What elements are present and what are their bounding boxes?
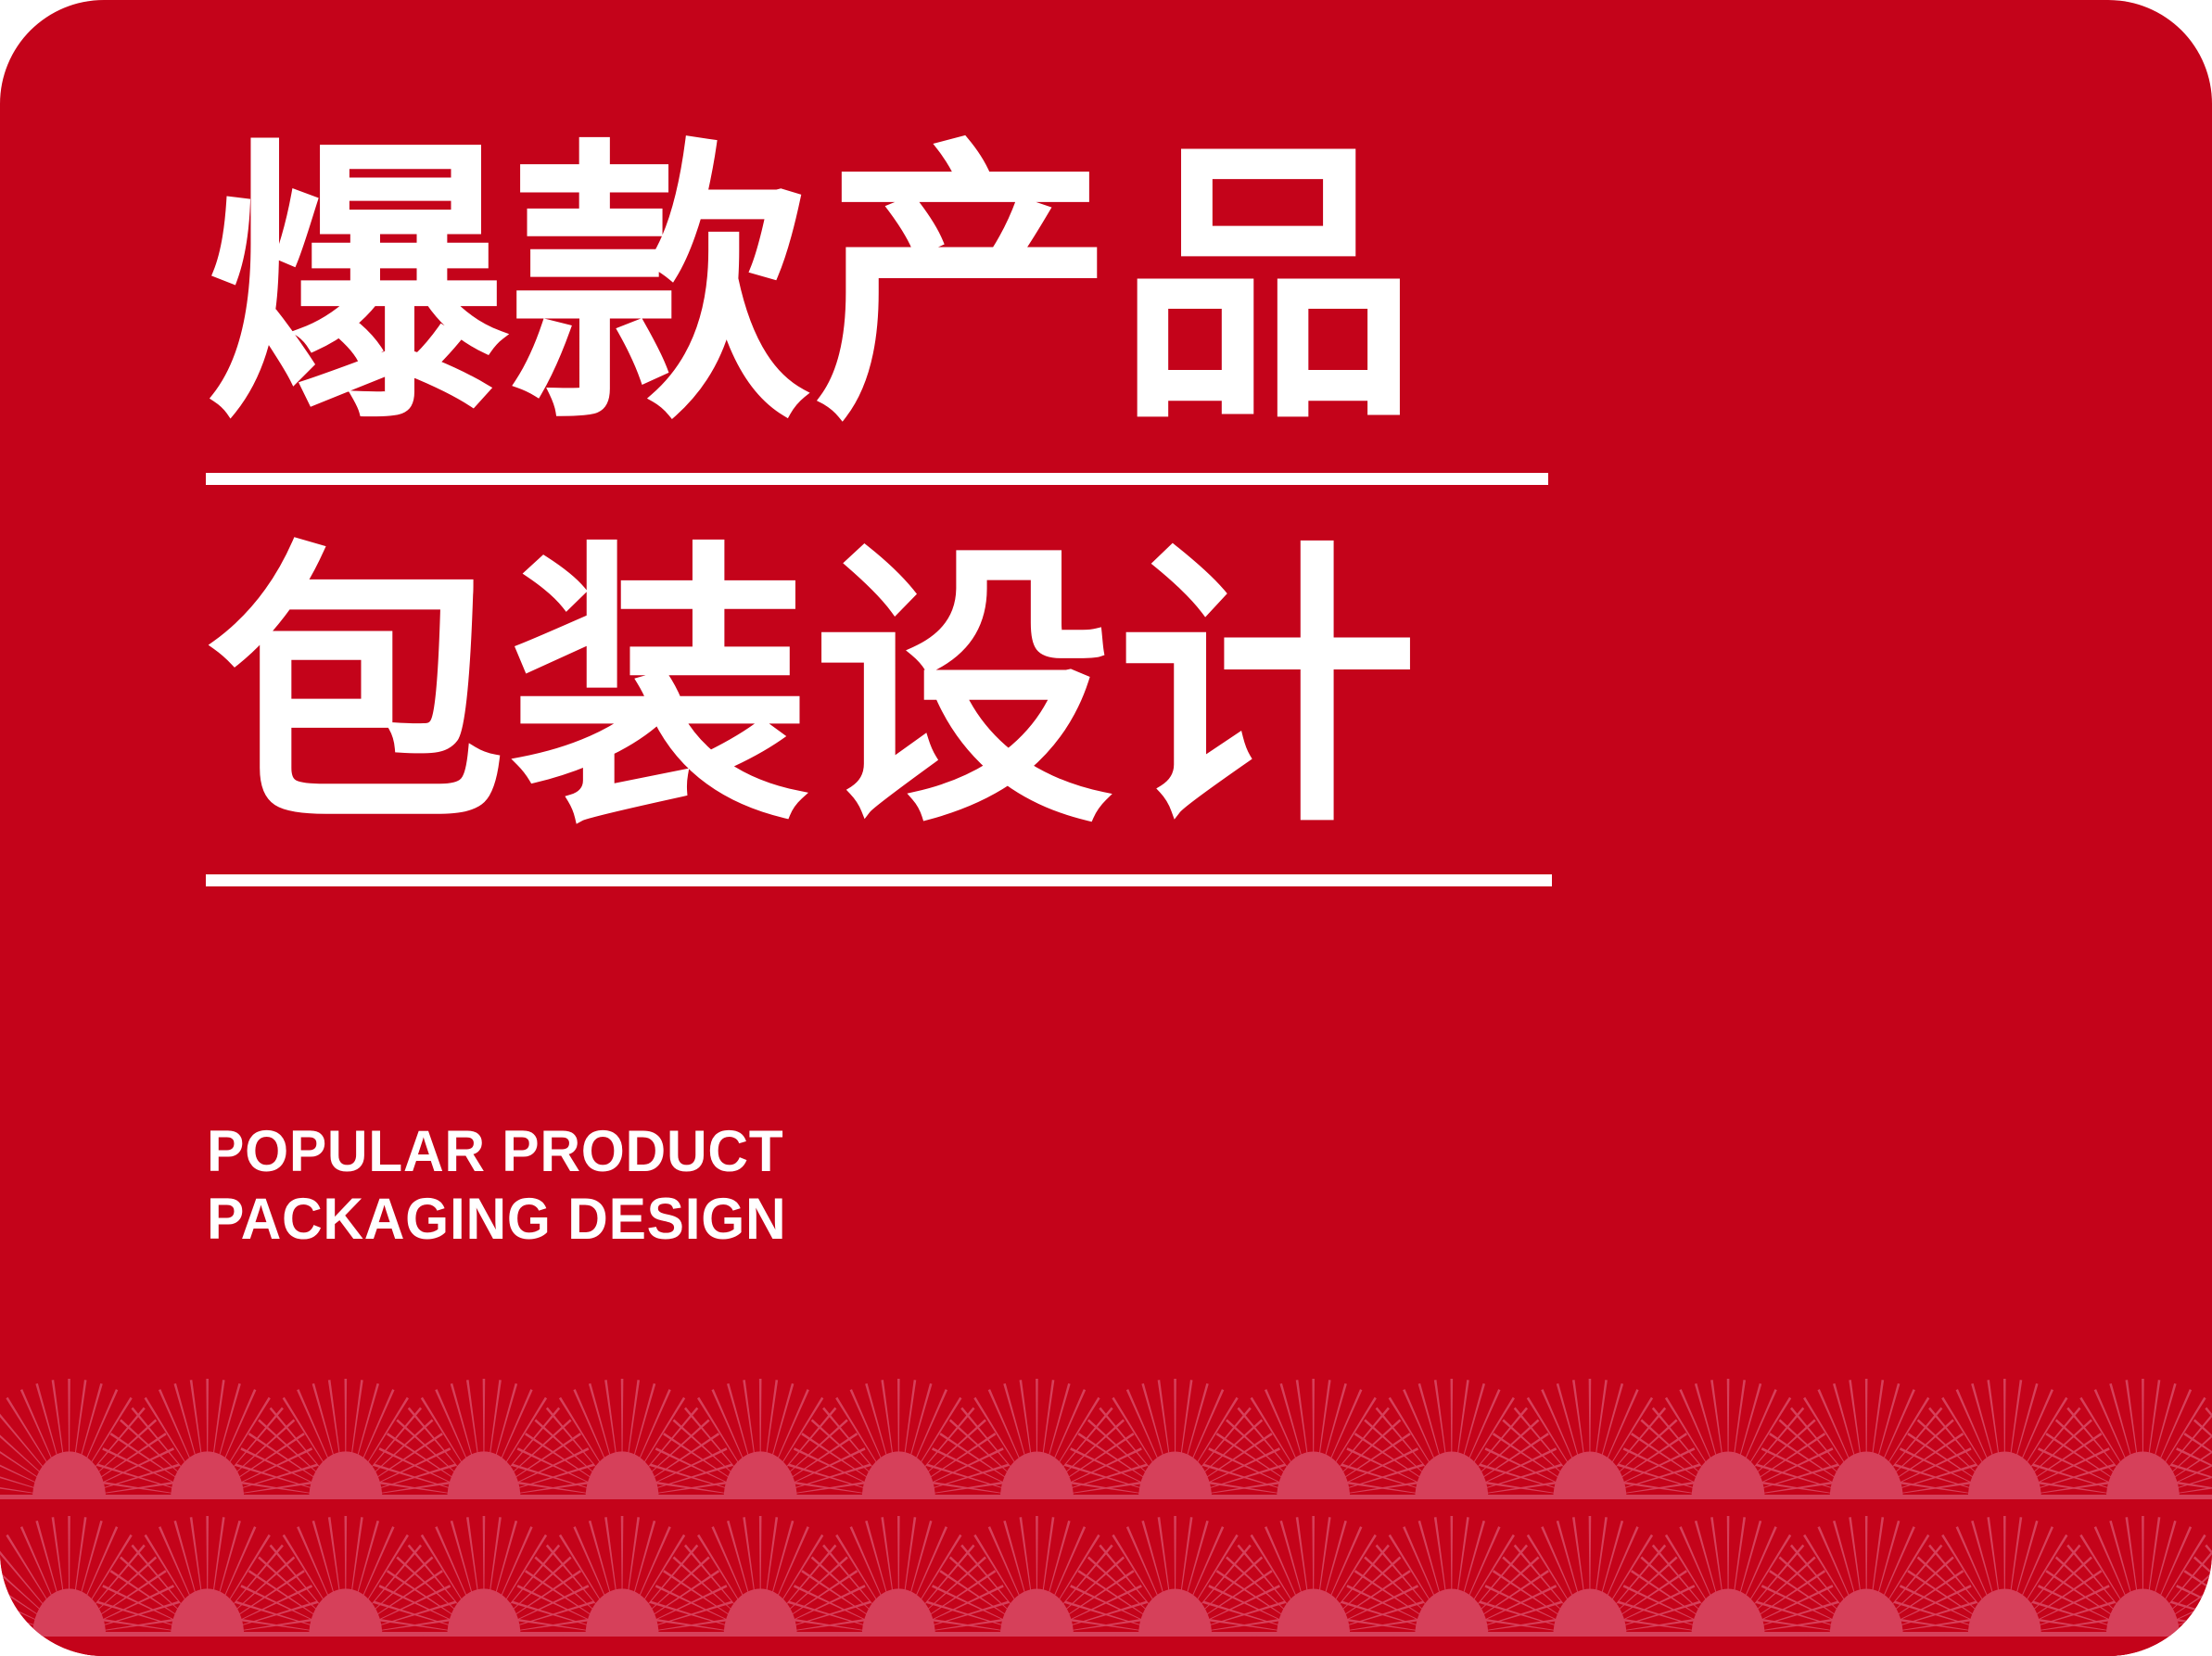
sunburst-row xyxy=(0,1516,2212,1656)
sunburst-dome xyxy=(1830,1589,1903,1636)
sunburst-ray xyxy=(370,1480,455,1494)
sunburst-ray xyxy=(1354,1433,1428,1482)
sunburst-ray xyxy=(926,1600,1009,1627)
sunburst-ray xyxy=(925,1447,1004,1485)
sunburst-ray xyxy=(2165,1556,2212,1615)
sunburst-ray xyxy=(644,1419,710,1478)
sunburst-ray xyxy=(1618,1600,1700,1627)
sunburst-ray xyxy=(1769,1570,1842,1619)
sunburst-ray xyxy=(1066,1617,1151,1631)
sunburst-ray xyxy=(77,1383,103,1470)
sunburst-ray xyxy=(81,1389,118,1471)
sunburst-ray xyxy=(1541,1526,1578,1608)
sunburst-ray xyxy=(507,1635,592,1637)
sunburst-ray xyxy=(1087,1556,1153,1615)
sunburst-ray xyxy=(1342,1635,1428,1637)
sunburst-ray xyxy=(684,1545,742,1613)
sunburst-ray xyxy=(784,1480,870,1494)
sunburst-ray xyxy=(1389,1397,1436,1473)
sunburst-ray xyxy=(559,1397,606,1473)
sunburst-ray xyxy=(684,1408,742,1476)
sunburst-ray xyxy=(1481,1497,1566,1500)
sunburst-ray xyxy=(1199,1497,1284,1500)
sunburst-ray xyxy=(811,1556,877,1615)
sunburst-ray xyxy=(0,1585,43,1623)
sunburst-ray xyxy=(231,1497,316,1500)
sunburst-ray xyxy=(1070,1447,1149,1485)
sunburst-ray xyxy=(2033,1600,2116,1627)
sunburst-ray xyxy=(240,1447,319,1485)
sunburst-ray xyxy=(759,1379,762,1468)
sunburst-ray xyxy=(1744,1535,1791,1611)
sunburst-ray xyxy=(881,1380,895,1468)
sunburst-ray xyxy=(621,1379,624,1468)
sunburst-ray xyxy=(1066,1635,1151,1637)
sunburst-ray xyxy=(759,1516,762,1605)
sunburst-ray xyxy=(1896,1497,1981,1500)
sunburst-ray xyxy=(2038,1447,2117,1485)
sunburst-dome xyxy=(447,1451,520,1498)
sunburst-icon xyxy=(1337,1379,1567,1499)
sunburst-ray xyxy=(1141,1521,1167,1607)
sunburst-ray xyxy=(312,1521,338,1607)
sunburst-ray xyxy=(1341,1463,1424,1490)
sunburst-horizon-line xyxy=(0,1632,2212,1637)
headline-block: 爆款产品 包装设计 xyxy=(206,139,1689,886)
sunburst-ray xyxy=(1817,1526,1854,1608)
sunburst-ray xyxy=(794,1585,872,1623)
sunburst-ray xyxy=(1070,1585,1149,1623)
sunburst-ray xyxy=(2094,1389,2131,1471)
sunburst-ray xyxy=(1061,1497,1146,1500)
sunburst-ray xyxy=(98,1497,184,1500)
sunburst-ray xyxy=(1203,1463,1286,1490)
sunburst-ray xyxy=(2034,1617,2119,1631)
sunburst-icon xyxy=(1061,1516,1290,1637)
sunburst-ray xyxy=(2147,1380,2161,1468)
sunburst-ray xyxy=(1971,1383,1997,1470)
sunburst-ray xyxy=(922,1497,1007,1500)
sunburst-ray xyxy=(649,1585,728,1623)
sunburst-ray xyxy=(1900,1585,1978,1623)
sunburst-ray xyxy=(1652,1408,1710,1476)
sunburst-ray xyxy=(1480,1600,1562,1627)
sunburst-ray xyxy=(2028,1497,2113,1500)
sunburst-dome xyxy=(309,1451,382,1498)
sunburst-ray xyxy=(1464,1526,1501,1608)
sunburst-ray xyxy=(1875,1383,1901,1470)
sunburst-dome xyxy=(32,1588,106,1636)
sunburst-ray xyxy=(328,1380,342,1468)
sunburst-ray xyxy=(922,1617,1008,1631)
sunburst-ray xyxy=(220,1526,257,1608)
sunburst-ray xyxy=(1045,1521,1071,1607)
sunburst-ray xyxy=(783,1635,869,1637)
sunburst-ray xyxy=(1364,1556,1430,1615)
sunburst-ray xyxy=(865,1521,891,1607)
sunburst-ray xyxy=(374,1600,456,1627)
sunburst-ray xyxy=(96,1600,179,1627)
sunburst-ray xyxy=(1434,1380,1448,1468)
sunburst-ray xyxy=(638,1535,685,1611)
sunburst-ray xyxy=(1335,1419,1401,1478)
sunburst-ray xyxy=(270,1545,327,1613)
sunburst-ray xyxy=(921,1556,986,1615)
sunburst-ray xyxy=(1251,1535,1298,1611)
sunburst-ray xyxy=(1613,1635,1698,1637)
sunburst-ray xyxy=(2008,1380,2022,1468)
sunburst-ray xyxy=(1695,1383,1721,1470)
sunburst-ray xyxy=(1099,1408,1156,1476)
sunburst-ray xyxy=(1900,1447,1978,1485)
sunburst-ray xyxy=(785,1570,858,1619)
sunburst-ray xyxy=(52,1517,66,1605)
sunburst-ray xyxy=(1891,1433,1964,1482)
sunburst-ray xyxy=(652,1635,737,1637)
sunburst-ray xyxy=(1329,1397,1377,1473)
sunburst-ray xyxy=(928,1480,1013,1494)
sunburst-ray xyxy=(1312,1379,1315,1468)
sunburst-ray xyxy=(663,1433,736,1482)
sunburst-icon xyxy=(231,1379,461,1499)
sunburst-ray xyxy=(2045,1570,2118,1619)
sunburst-ray xyxy=(645,1635,731,1637)
sunburst-ray xyxy=(1896,1635,1981,1637)
sunburst-ray xyxy=(1893,1585,1972,1623)
sunburst-ray xyxy=(1761,1447,1840,1485)
sunburst-ray xyxy=(1557,1383,1583,1470)
sunburst-ray xyxy=(94,1433,167,1482)
sunburst-ray xyxy=(776,1397,823,1473)
sunburst-ray xyxy=(96,1463,179,1490)
sunburst-ray xyxy=(364,1408,422,1476)
sunburst-ray xyxy=(0,1497,40,1500)
sunburst-ray xyxy=(925,1585,1004,1623)
divider-rule-2 xyxy=(206,874,1552,886)
sunburst-ray xyxy=(2027,1556,2092,1615)
sunburst-ray xyxy=(790,1635,875,1637)
sunburst-ray xyxy=(1614,1617,1699,1631)
sunburst-icon xyxy=(231,1516,461,1637)
sunburst-ray xyxy=(98,1480,184,1494)
sunburst-ray xyxy=(73,1517,87,1605)
sunburst-ray xyxy=(236,1480,322,1494)
sunburst-ray xyxy=(88,1408,146,1476)
sunburst-ray xyxy=(466,1380,480,1468)
sunburst-ray xyxy=(1886,1408,1943,1476)
sunburst-ray xyxy=(345,1516,348,1605)
sunburst-ray xyxy=(1987,1380,2001,1468)
sunburst-ray xyxy=(1099,1545,1156,1613)
sunburst-dome xyxy=(586,1451,659,1498)
sunburst-ray xyxy=(364,1545,422,1613)
sunburst-ray xyxy=(1790,1545,1848,1613)
sunburst-ray xyxy=(1886,1545,1943,1613)
sunburst-ray xyxy=(1665,1535,1712,1611)
sunburst-dome xyxy=(1692,1452,1765,1498)
sunburst-ray xyxy=(525,1570,598,1619)
sunburst-ray xyxy=(145,1397,192,1473)
sunburst-ray xyxy=(1618,1463,1700,1490)
sunburst-ray xyxy=(1062,1433,1135,1482)
sunburst-ray xyxy=(907,1383,933,1470)
sunburst-ray xyxy=(1473,1419,1539,1478)
sunburst-icon xyxy=(922,1516,1151,1637)
sunburst-ray xyxy=(1376,1545,1433,1613)
sunburst-dome xyxy=(32,1451,106,1498)
sunburst-dome xyxy=(1968,1452,2041,1498)
sunburst-ray xyxy=(1613,1497,1698,1500)
sunburst-ray xyxy=(2193,1556,2212,1615)
sunburst-ray xyxy=(1059,1556,1125,1615)
sunburst-ray xyxy=(2205,1408,2212,1476)
sunburst-ray xyxy=(1865,1379,1868,1468)
sunburst-ray xyxy=(190,1380,204,1468)
sunburst-ray xyxy=(928,1617,1013,1631)
sunburst-ray xyxy=(507,1497,592,1500)
sunburst-ray xyxy=(630,1383,656,1470)
sunburst-ray xyxy=(1907,1570,1980,1619)
sunburst-ray xyxy=(2027,1419,2092,1478)
sunburst-ray xyxy=(850,1389,887,1471)
sunburst-ray xyxy=(642,1408,699,1476)
subheading-line-2: PACKAGING DESIGN xyxy=(207,1186,786,1254)
sunburst-ray xyxy=(928,1497,1013,1500)
sunburst-icon xyxy=(645,1379,875,1499)
sunburst-ray xyxy=(534,1556,600,1615)
sunburst-ray xyxy=(283,1397,330,1473)
sunburst-ray xyxy=(1917,1419,1983,1478)
sunburst-ray xyxy=(506,1419,572,1478)
sunburst-ray xyxy=(190,1517,204,1605)
sunburst-ray xyxy=(2167,1497,2212,1500)
sunburst-ray xyxy=(2167,1635,2212,1637)
sunburst-ray xyxy=(1736,1383,1762,1470)
sunburst-ray xyxy=(2176,1585,2212,1623)
sunburst-ray xyxy=(1870,1380,1884,1468)
sunburst-ray xyxy=(258,1556,324,1615)
sunburst-ray xyxy=(1337,1497,1422,1500)
sunburst-icon xyxy=(507,1379,737,1499)
sunburst-ray xyxy=(1889,1635,1975,1637)
sunburst-ray xyxy=(2176,1447,2212,1485)
sunburst-ray xyxy=(215,1521,241,1607)
sunburst-ray xyxy=(95,1447,174,1485)
sunburst-icon xyxy=(1751,1379,1981,1499)
sunburst-ray xyxy=(1894,1600,1977,1627)
sunburst-icon xyxy=(783,1379,1013,1499)
sunburst-ray xyxy=(2031,1585,2110,1623)
sunburst-ray xyxy=(865,1383,891,1470)
sunburst-ray xyxy=(1614,1570,1687,1619)
sunburst-ray xyxy=(626,1380,640,1468)
sunburst-ray xyxy=(93,1635,178,1637)
sunburst-ray xyxy=(743,1517,756,1605)
sunburst-ray xyxy=(1226,1419,1291,1478)
sunburst-ray xyxy=(850,1526,887,1608)
sunburst-ray xyxy=(1752,1480,1837,1494)
sunburst-ray xyxy=(1208,1585,1287,1623)
sunburst-ray xyxy=(650,1463,732,1490)
sunburst-ray xyxy=(226,1408,284,1476)
sunburst-ray xyxy=(0,1419,47,1478)
sunburst-ray xyxy=(1758,1635,1843,1637)
sunburst-dome xyxy=(1692,1589,1765,1636)
sunburst-ray xyxy=(1888,1419,1954,1478)
sunburst-ray xyxy=(84,1397,132,1473)
sunburst-ray xyxy=(73,1380,87,1468)
sunburst-ray xyxy=(1894,1463,1977,1490)
sunburst-ray xyxy=(173,1521,199,1607)
sunburst-ray xyxy=(1341,1463,1423,1490)
sunburst-ray xyxy=(110,1433,184,1482)
sunburst-ray xyxy=(1036,1516,1038,1605)
sunburst-icon xyxy=(922,1379,1151,1499)
sunburst-ray xyxy=(1052,1397,1100,1473)
sunburst-ray xyxy=(1459,1383,1485,1470)
sunburst-ray xyxy=(1779,1419,1845,1478)
sunburst-ray xyxy=(787,1447,866,1485)
sunburst-ray xyxy=(673,1556,739,1615)
sunburst-ray xyxy=(328,1517,342,1605)
sunburst-ray xyxy=(788,1600,871,1627)
sunburst-ray xyxy=(20,1526,57,1608)
sunburst-ray xyxy=(1619,1617,1704,1631)
sunburst-ray xyxy=(923,1433,997,1482)
sunburst-ray xyxy=(95,1585,174,1623)
sunburst-ray xyxy=(1679,1389,1716,1471)
sunburst-ray xyxy=(1594,1517,1608,1605)
sunburst-ray xyxy=(2066,1545,2124,1613)
sunburst-ray xyxy=(1326,1526,1363,1608)
sunburst-ray xyxy=(1541,1389,1578,1471)
sunburst-dome xyxy=(1415,1452,1488,1498)
sunburst-ray xyxy=(159,1389,196,1471)
sunburst-ray xyxy=(780,1408,837,1476)
sunburst-ray xyxy=(1481,1635,1566,1637)
sunburst-ray xyxy=(1727,1516,1730,1605)
sunburst-ray xyxy=(513,1480,598,1494)
sunburst-ray xyxy=(1750,1419,1816,1478)
sunburst-ray xyxy=(1602,1526,1639,1608)
sunburst-ray xyxy=(634,1526,671,1608)
sunburst-icon xyxy=(93,1379,323,1499)
sunburst-ray xyxy=(644,1556,710,1615)
sunburst-ray xyxy=(1418,1383,1444,1470)
sunburst-ray xyxy=(98,1635,184,1637)
sunburst-ray xyxy=(512,1463,594,1490)
sunburst-ray xyxy=(1389,1535,1436,1611)
sunburst-ray xyxy=(769,1383,795,1470)
sunburst-ray xyxy=(1202,1463,1285,1490)
sunburst-ray xyxy=(1056,1545,1113,1613)
sunburst-ray xyxy=(0,1556,47,1615)
sunburst-ray xyxy=(2205,1545,2212,1613)
sunburst-ray xyxy=(1891,1570,1964,1619)
sunburst-ray xyxy=(1557,1521,1583,1607)
sunburst-ray xyxy=(1342,1497,1428,1500)
sunburst-ray xyxy=(835,1397,883,1473)
sunburst-ray xyxy=(1141,1383,1167,1470)
sunburst-ray xyxy=(655,1447,734,1485)
sunburst-ray xyxy=(396,1556,462,1615)
sunburst-ray xyxy=(2171,1463,2212,1490)
sunburst-ray xyxy=(918,1545,975,1613)
sunburst-horizon-line xyxy=(0,1495,2212,1499)
sunburst-ray xyxy=(1476,1617,1561,1631)
sunburst-ray xyxy=(1481,1617,1566,1631)
sunburst-ray xyxy=(2183,1570,2212,1619)
sunburst-ray xyxy=(1480,1600,1562,1627)
sunburst-ray xyxy=(650,1600,732,1627)
sunburst-ray xyxy=(1183,1383,1209,1470)
sunburst-ray xyxy=(1755,1447,1834,1485)
sunburst-ray xyxy=(1752,1570,1825,1619)
sunburst-ray xyxy=(914,1397,961,1473)
sunburst-ray xyxy=(881,1517,895,1605)
sunburst-ray xyxy=(1077,1570,1150,1619)
sunburst-ray xyxy=(234,1585,312,1623)
sunburst-ray xyxy=(102,1447,181,1485)
sunburst-ray xyxy=(466,1517,480,1605)
sunburst-ray xyxy=(1049,1389,1086,1471)
sunburst-ray xyxy=(206,1516,209,1605)
sunburst-ray xyxy=(1485,1585,1564,1623)
sunburst-ray xyxy=(1631,1570,1704,1619)
sunburst-ray xyxy=(1606,1535,1653,1611)
sunburst-ray xyxy=(500,1535,547,1611)
sunburst-ray xyxy=(1062,1480,1147,1494)
sunburst-ray xyxy=(0,1433,44,1482)
sunburst-icon xyxy=(1613,1379,1843,1499)
sunburst-ray xyxy=(1502,1556,1568,1615)
sunburst-ray xyxy=(1335,1556,1401,1615)
sunburst-ray xyxy=(1895,1480,1980,1494)
sunburst-ray xyxy=(782,1419,848,1478)
sunburst-ray xyxy=(1204,1635,1290,1637)
sunburst-ray xyxy=(1459,1521,1485,1607)
sunburst-ray xyxy=(1744,1397,1791,1473)
sunburst-ray xyxy=(1179,1380,1193,1468)
sunburst-ray xyxy=(1194,1545,1252,1613)
sunburst-ray xyxy=(1928,1545,1986,1613)
sunburst-ray xyxy=(1614,1480,1699,1494)
sunburst-icon xyxy=(1475,1379,1705,1499)
sunburst-ray xyxy=(949,1419,1015,1478)
sunburst-ray xyxy=(787,1585,866,1623)
sunburst-ray xyxy=(2024,1545,2081,1613)
sunburst-ray xyxy=(379,1447,458,1485)
sunburst-row xyxy=(0,1379,2212,1656)
sunburst-ray xyxy=(1514,1545,1571,1613)
sunburst-ray xyxy=(236,1617,322,1631)
sunburst-ray xyxy=(220,1389,257,1471)
sunburst-ray xyxy=(131,1545,188,1613)
sunburst-ray xyxy=(1803,1397,1850,1473)
sunburst-ray xyxy=(68,1379,70,1468)
sunburst-ray xyxy=(1620,1635,1705,1637)
sunburst-dome xyxy=(171,1451,244,1498)
sunburst-ray xyxy=(801,1570,874,1619)
sunburst-ray xyxy=(1200,1433,1273,1482)
sunburst-ray xyxy=(1618,1463,1700,1490)
sunburst-ray xyxy=(52,1380,66,1468)
sunburst-ray xyxy=(1036,1379,1038,1468)
sunburst-ray xyxy=(1321,1521,1347,1607)
sunburst-ray xyxy=(1418,1521,1444,1607)
sunburst-icon xyxy=(0,1379,184,1499)
sunburst-ray xyxy=(1204,1497,1290,1500)
